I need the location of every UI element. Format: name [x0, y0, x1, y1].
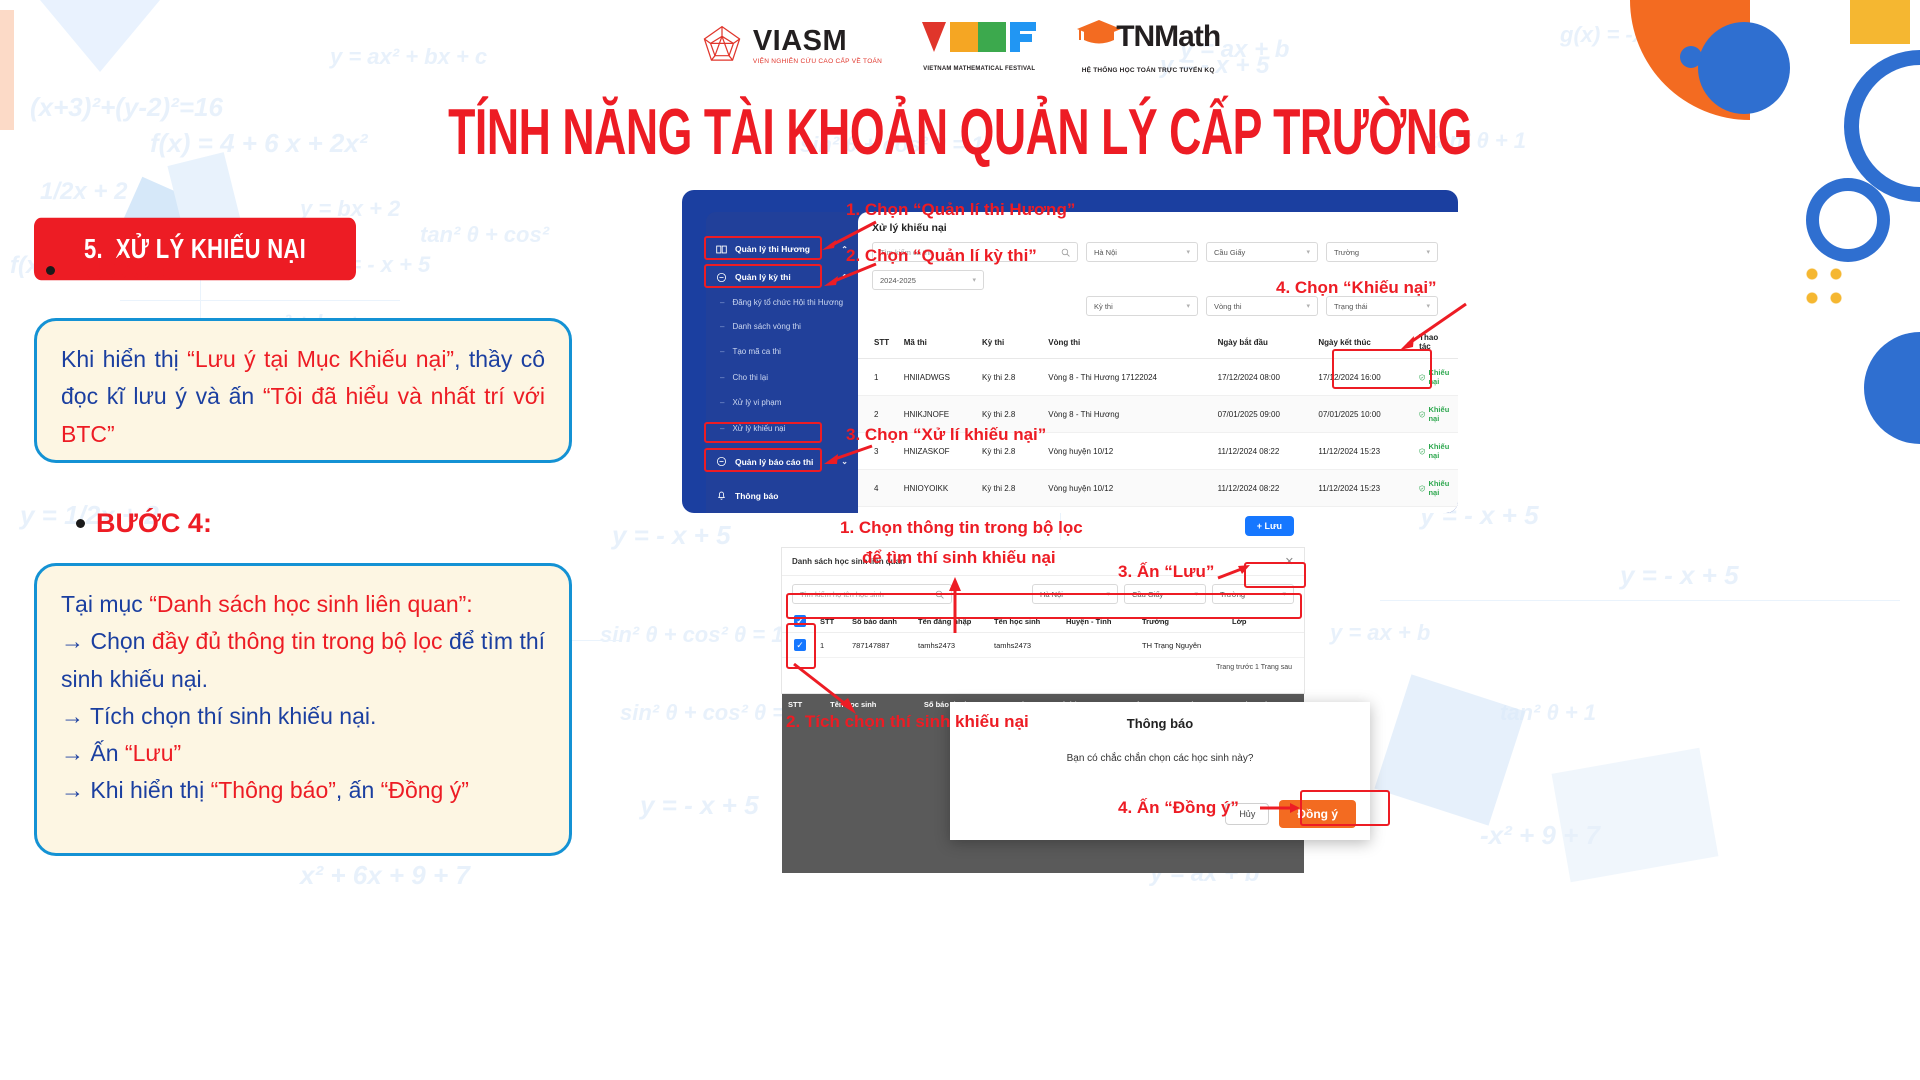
year-value: 2024-2025 [880, 276, 916, 285]
cell-lop [1228, 633, 1304, 658]
chevron-down-icon: ▾ [1186, 248, 1190, 256]
viasm-tagline: VIỆN NGHIÊN CỨU CAO CẤP VỀ TOÁN [753, 59, 882, 66]
cell-ma: HNIIADWGS [898, 359, 976, 396]
step4-l2b: đầy đủ thông tin trong bộ lọc [152, 628, 443, 654]
col-ma-thi: Mã thi [898, 326, 976, 359]
filter-row-2: Kỳ thi▾ Vòng thi▾ Trạng thái▾ [858, 296, 1458, 322]
dash-icon: – [720, 372, 724, 384]
cell-ky: Kỳ thi 2.8 [976, 470, 1042, 507]
step4-l5b: “Thông báo” [211, 777, 336, 803]
chevron-down-icon: ▾ [972, 276, 976, 284]
province-value: Hà Nội [1094, 248, 1117, 257]
chevron-down-icon: ▾ [1306, 248, 1310, 256]
sidebar-label: Tạo mã ca thi [732, 346, 780, 358]
khieu-nai-button[interactable]: Khiếu nại [1419, 442, 1452, 460]
dash-icon: – [720, 297, 724, 309]
annotation-3: 3. Chọn “Xử lí khiếu nại” [846, 425, 1046, 445]
highlight-khieu-nai-action [1332, 349, 1432, 389]
chevron-down-icon: ▾ [1426, 248, 1430, 256]
sidebar-item-danh-sach-vong-thi[interactable]: – Danh sách vòng thi [706, 321, 858, 333]
highlight-quan-ly-bao-cao-thi [704, 448, 822, 472]
dash-icon: – [720, 397, 724, 409]
round-value: Vòng thi [1214, 302, 1242, 311]
cell-ma: HNIOYOIKK [898, 470, 976, 507]
step4-l4b: “Lưu” [125, 740, 181, 766]
tnmath-logo: TNMath HỆ THỐNG HỌC TOÁN TRỰC TUYẾN KQ [1076, 18, 1220, 74]
dash-icon: – [720, 346, 724, 358]
highlight-quan-ly-thi-huong [704, 236, 822, 260]
sidebar-item-xu-ly-vi-pham[interactable]: – Xử lý vi phạm [706, 397, 858, 409]
search-icon [1061, 248, 1070, 257]
sidebar-item-thong-bao[interactable]: Thông báo [706, 485, 858, 507]
annotation-b1-line2: để tìm thí sinh khiếu nại [862, 548, 1056, 568]
district-value: Cầu Giấy [1214, 248, 1245, 257]
sidebar-label: Xử lý vi phạm [732, 397, 781, 409]
sidebar-item-cho-thi-lai[interactable]: – Cho thi lại [706, 372, 858, 384]
arrow-b1 [945, 575, 965, 635]
step4-line-1: Tại mục “Danh sách học sinh liên quan”: [61, 586, 545, 623]
cell-vong: Vòng huyện 10/12 [1042, 433, 1211, 470]
viasm-polygon-icon [700, 24, 744, 68]
cell-kt: 11/12/2024 15:23 [1312, 433, 1413, 470]
vnmf-logo: VIETNAM MATHEMATICAL FESTIVAL [920, 20, 1038, 72]
decor-blue-halfcircle-bottom [1864, 332, 1920, 444]
cell-vong: Vòng 8 - Thi Hương [1042, 396, 1211, 433]
step4-l1a: Tại mục [61, 591, 149, 617]
cell-stt: 1 [858, 359, 898, 396]
step4-l4a: → Ấn [61, 740, 125, 766]
page-title: TÍNH NĂNG TÀI KHOẢN QUẢN LÝ CẤP TRƯỜNG [67, 96, 1853, 170]
annotation-b3: 3. Ấn “Lưu” [1118, 562, 1214, 582]
year-select[interactable]: 2024-2025▾ [872, 270, 984, 290]
tnmath-tagline: HỆ THỐNG HỌC TOÁN TRỰC TUYẾN KQ [1082, 67, 1215, 74]
annotation-4: 4. Chọn “Khiếu nại” [1276, 278, 1437, 298]
table-row[interactable]: 4 HNIOYOIKK Kỳ thi 2.8 Vòng huyện 10/12 … [858, 470, 1458, 507]
save-button[interactable]: + Lưu [1245, 516, 1294, 536]
step3-text-a: Khi hiển thị [61, 346, 187, 372]
step-3-heading: BƯỚC 3: [46, 255, 182, 286]
arrow-b3 [1216, 562, 1252, 586]
sidebar-item-tao-ma-ca-thi[interactable]: – Tạo mã ca thi [706, 346, 858, 358]
annotation-1: 1. Chọn “Quản lí thi Hương” [846, 200, 1075, 220]
bullet-dot-icon [46, 266, 55, 275]
vnmf-tagline: VIETNAM MATHEMATICAL FESTIVAL [923, 66, 1035, 72]
cell-truong: TH Trạng Nguyên [1138, 633, 1228, 658]
shield-check-icon [1419, 447, 1425, 456]
arrow-b2 [788, 660, 868, 718]
col-ngay-bat-dau: Ngày bắt đầu [1212, 326, 1313, 359]
highlight-save-button [1244, 562, 1306, 588]
district-select[interactable]: Cầu Giấy▾ [1206, 242, 1318, 262]
cell-bd: 07/01/2025 09:00 [1212, 396, 1313, 433]
cell-ky: Kỳ thi 2.8 [976, 359, 1042, 396]
annotation-b4: 4. Ấn “Đồng ý” [1118, 798, 1239, 818]
sidebar-label: Đăng ký tổ chức Hội thi Hương [732, 297, 843, 309]
step3-text-b: “Lưu ý tại Mục Khiếu nại” [187, 346, 454, 372]
province-select[interactable]: Hà Nội▾ [1086, 242, 1198, 262]
step-4-label: BƯỚC 4: [96, 508, 212, 539]
highlight-quan-ly-ky-thi [704, 264, 822, 288]
chevron-down-icon: ▾ [1186, 302, 1190, 310]
khieu-nai-label: Khiếu nại [1428, 479, 1452, 497]
cell-bd: 11/12/2024 08:22 [1212, 470, 1313, 507]
cell-bd: 17/12/2024 08:00 [1212, 359, 1313, 396]
cell-stt: 4 [858, 470, 898, 507]
logo-row: VIASM VIỆN NGHIÊN CỨU CAO CẤP VỀ TOÁN VI… [0, 18, 1920, 74]
cell-bd: 11/12/2024 08:22 [1212, 433, 1313, 470]
shield-check-icon [1419, 410, 1425, 419]
col-stt: STT [858, 326, 898, 359]
cell-kt: 07/01/2025 10:00 [1312, 396, 1413, 433]
step4-l1b: “Danh sách học sinh liên quan”: [149, 591, 472, 617]
round-select[interactable]: Vòng thi▾ [1206, 296, 1318, 316]
arrow-b4 [1258, 798, 1302, 818]
highlight-xu-ly-khieu-nai [704, 422, 822, 443]
cell-action[interactable]: Khiếu nại [1413, 396, 1458, 433]
sidebar-label: Thông báo [735, 491, 778, 501]
khieu-nai-label: Khiếu nại [1428, 442, 1452, 460]
sidebar-label: Danh sách vòng thi [732, 321, 801, 333]
decor-dots-grid [1800, 262, 1846, 308]
bell-icon [716, 490, 727, 501]
cell-huyen [1062, 633, 1138, 658]
dash-icon: – [720, 321, 724, 333]
step-4-heading: BƯỚC 4: [76, 508, 212, 539]
cell-stt: 1 [816, 633, 848, 658]
cell-action[interactable]: Khiếu nại [1413, 433, 1458, 470]
dialog-message: Bạn có chắc chắn chọn các học sinh này? [950, 731, 1370, 764]
khieu-nai-button[interactable]: Khiếu nại [1419, 479, 1452, 497]
annotation-b2: 2. Tích chọn thí sinh khiếu nại [786, 712, 1029, 732]
sidebar-item-dang-ky-to-chuc[interactable]: – Đăng ký tổ chức Hội thi Hương [706, 297, 858, 309]
exam-select[interactable]: Kỳ thi▾ [1086, 296, 1198, 316]
school-value: Trường [1334, 248, 1359, 257]
highlight-filter-row [786, 593, 1302, 619]
viasm-logo: VIASM VIỆN NGHIÊN CỨU CAO CẤP VỀ TOÁN [700, 24, 882, 68]
step4-line-2: → Chọn đầy đủ thông tin trong bộ lọc để … [61, 623, 545, 698]
decor-blue-ring [1806, 178, 1890, 262]
exam-value: Kỳ thi [1094, 302, 1113, 311]
chevron-down-icon: ▾ [1306, 302, 1310, 310]
shield-check-icon [1419, 484, 1425, 493]
tnmath-wordmark: TNMath [1116, 22, 1220, 52]
annotation-b1-line1: 1. Chọn thông tin trong bộ lọc [840, 518, 1083, 538]
step4-line-4: → Ấn “Lưu” [61, 735, 545, 772]
cell-action[interactable]: Khiếu nại [1413, 470, 1458, 507]
viasm-wordmark: VIASM [753, 27, 882, 56]
sidebar-label: Cho thi lại [732, 372, 768, 384]
col-vong-thi: Vòng thi [1042, 326, 1211, 359]
step-4-callout: Tại mục “Danh sách học sinh liên quan”: … [34, 563, 572, 856]
step-3-callout: Khi hiển thị “Lưu ý tại Mục Khiếu nại”, … [34, 318, 572, 463]
decor-lightblue-blob-bottomright [1552, 748, 1719, 882]
cell-username: tamhs2473 [914, 633, 990, 658]
khieu-nai-button[interactable]: Khiếu nại [1419, 405, 1452, 423]
cell-kt: 11/12/2024 15:23 [1312, 470, 1413, 507]
khieu-nai-label: Khiếu nại [1428, 405, 1452, 423]
cell-sbd: 787147887 [848, 633, 914, 658]
decor-lightblue-blob-bottomleft [1374, 674, 1525, 825]
col-ky-thi: Kỳ thi [976, 326, 1042, 359]
arrow-2 [820, 262, 880, 292]
cell-name: tamhs2473 [990, 633, 1062, 658]
step4-l5d: “Đồng ý” [381, 777, 469, 803]
step4-l5c: , ấn [336, 777, 381, 803]
step4-l5a: → Khi hiển thị [61, 777, 211, 803]
cell-vong: Vòng huyện 10/12 [1042, 470, 1211, 507]
cell-vong: Vòng 8 - Thi Hương 17122024 [1042, 359, 1211, 396]
status-value: Trạng thái [1334, 302, 1368, 311]
step4-l2a: → Chọn [61, 628, 152, 654]
school-select[interactable]: Trường▾ [1326, 242, 1438, 262]
table-row[interactable]: ✓ 1 787147887 tamhs2473 tamhs2473 TH Trạ… [782, 633, 1304, 658]
bullet-dot-icon [76, 519, 85, 528]
step-3-label: BƯỚC 3: [66, 255, 182, 286]
highlight-dong-y-button [1300, 790, 1390, 826]
step4-line-5: → Khi hiển thị “Thông báo”, ấn “Đồng ý” [61, 772, 545, 809]
step4-line-3: → Tích chọn thí sinh khiếu nại. [61, 698, 545, 735]
vnmf-mark-icon [920, 20, 1038, 54]
annotation-2: 2. Chọn “Quản lí kỳ thi” [846, 246, 1037, 266]
arrow-4 [1380, 300, 1470, 352]
